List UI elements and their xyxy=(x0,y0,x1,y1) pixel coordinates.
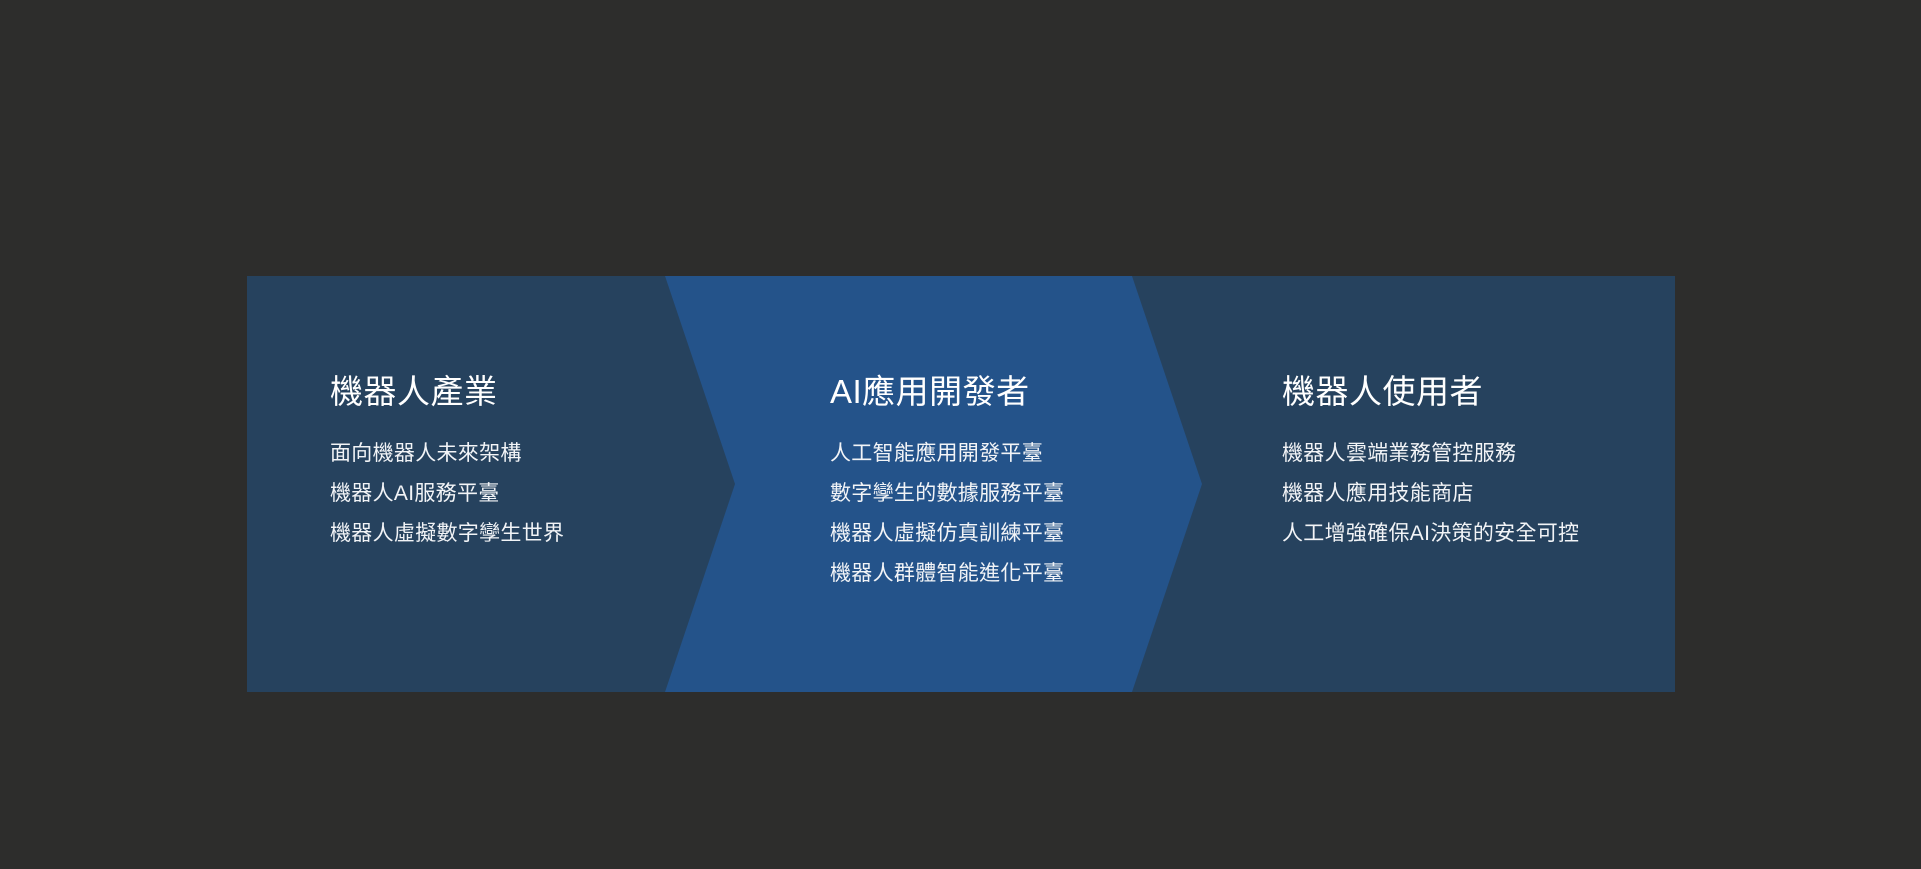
column-item-list-robot-user: 機器人雲端業務管控服務 機器人應用技能商店 人工增強確保AI決策的安全可控 xyxy=(1282,434,1579,554)
list-item: 面向機器人未來架構 xyxy=(330,434,564,474)
list-item: 機器人虛擬數字孿生世界 xyxy=(330,514,564,554)
column-ai-app-developer: AI應用開發者 人工智能應用開發平臺 數字孿生的數據服務平臺 機器人虛擬仿真訓練… xyxy=(830,276,1250,692)
column-robot-user: 機器人使用者 機器人雲端業務管控服務 機器人應用技能商店 人工增強確保AI決策的… xyxy=(1282,276,1675,692)
three-stage-chevron-panel: 機器人產業 面向機器人未來架構 機器人AI服務平臺 機器人虛擬數字孿生世界 AI… xyxy=(247,276,1675,692)
column-robot-industry: 機器人產業 面向機器人未來架構 機器人AI服務平臺 機器人虛擬數字孿生世界 xyxy=(330,276,750,692)
list-item: 機器人雲端業務管控服務 xyxy=(1282,434,1579,474)
column-item-list-robot-industry: 面向機器人未來架構 機器人AI服務平臺 機器人虛擬數字孿生世界 xyxy=(330,434,564,554)
list-item: 機器人群體智能進化平臺 xyxy=(830,554,1064,594)
list-item: 機器人應用技能商店 xyxy=(1282,474,1579,514)
slide-canvas: 機器人產業 面向機器人未來架構 機器人AI服務平臺 機器人虛擬數字孿生世界 AI… xyxy=(0,0,1921,869)
list-item: 人工智能應用開發平臺 xyxy=(830,434,1064,474)
column-heading-robot-user: 機器人使用者 xyxy=(1282,371,1483,413)
list-item: 人工增強確保AI決策的安全可控 xyxy=(1282,514,1579,554)
list-item: 機器人虛擬仿真訓練平臺 xyxy=(830,514,1064,554)
list-item: 數字孿生的數據服務平臺 xyxy=(830,474,1064,514)
column-item-list-ai-app-developer: 人工智能應用開發平臺 數字孿生的數據服務平臺 機器人虛擬仿真訓練平臺 機器人群體… xyxy=(830,434,1064,594)
list-item: 機器人AI服務平臺 xyxy=(330,474,564,514)
column-heading-ai-app-developer: AI應用開發者 xyxy=(830,371,1030,413)
column-heading-robot-industry: 機器人產業 xyxy=(330,371,498,413)
